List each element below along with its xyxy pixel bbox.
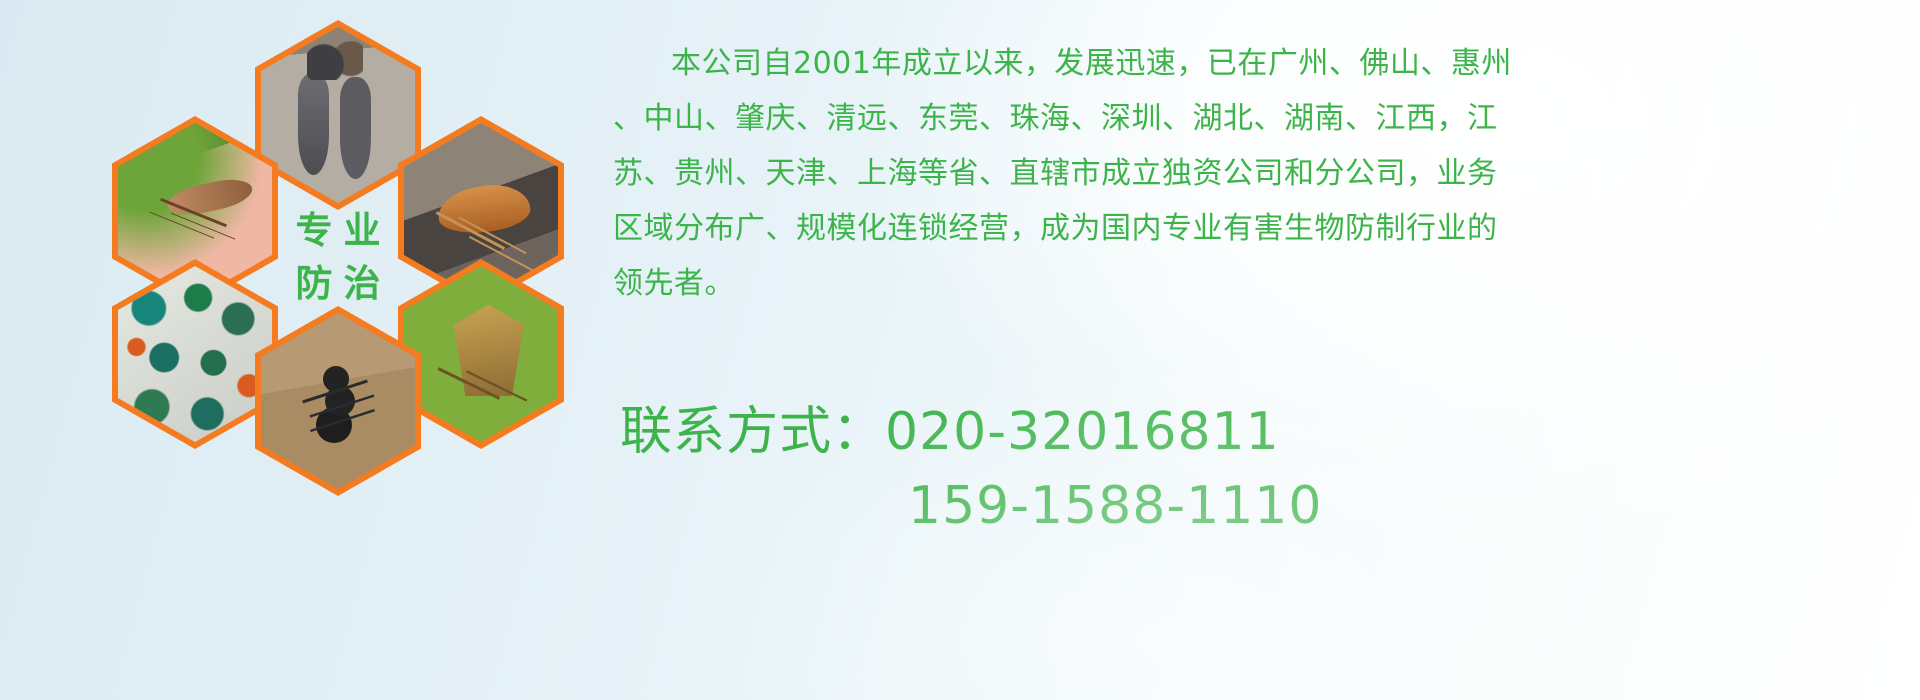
phone-secondary[interactable]: 159-1588-1110 (620, 469, 1620, 543)
slogan-frame: 专业 防治 (261, 170, 415, 346)
intro-line: 区域分布广、规模化连锁经营，成为国内专业有害生物防制行业的 (613, 201, 1898, 256)
intro-paragraph: 本公司自2001年成立以来，发展迅速，已在广州、佛山、惠州 、中山、肇庆、清远、… (613, 36, 1898, 311)
intro-line: 苏、贵州、天津、上海等省、直辖市成立独资公司和分公司，业务 (613, 146, 1898, 201)
contact-primary-line: 联系方式：020-32016811 (620, 395, 1620, 469)
promo-banner: 专业 防治 本公司自2001年成立以来，发展迅速，已在广州、佛山、惠州 、中山、… (0, 0, 1920, 700)
slogan-line-1: 专业 (285, 205, 392, 258)
hex-cell-slogan: 专业 防治 (255, 163, 421, 353)
stinkbug-photo-icon (404, 266, 558, 442)
hex-cell-stinkbug[interactable] (398, 259, 564, 449)
hex-photo-frame (118, 266, 272, 442)
honeycomb-cluster: 专业 防治 (88, 8, 588, 568)
hex-cell-flies[interactable] (112, 259, 278, 449)
phone-primary[interactable]: 020-32016811 (885, 402, 1280, 462)
flies-photo-icon (118, 266, 272, 442)
contact-label: 联系方式： (620, 402, 885, 462)
intro-line: 本公司自2001年成立以来，发展迅速，已在广州、佛山、惠州 (613, 36, 1898, 91)
intro-line: 领先者。 (613, 256, 1898, 311)
slogan-line-2: 防治 (285, 258, 392, 311)
contact-block: 联系方式：020-32016811 159-1588-1110 (620, 395, 1620, 543)
intro-line: 、中山、肇庆、清远、东莞、珠海、深圳、湖北、湖南、江西，江 (613, 91, 1898, 146)
hex-photo-frame (404, 266, 558, 442)
